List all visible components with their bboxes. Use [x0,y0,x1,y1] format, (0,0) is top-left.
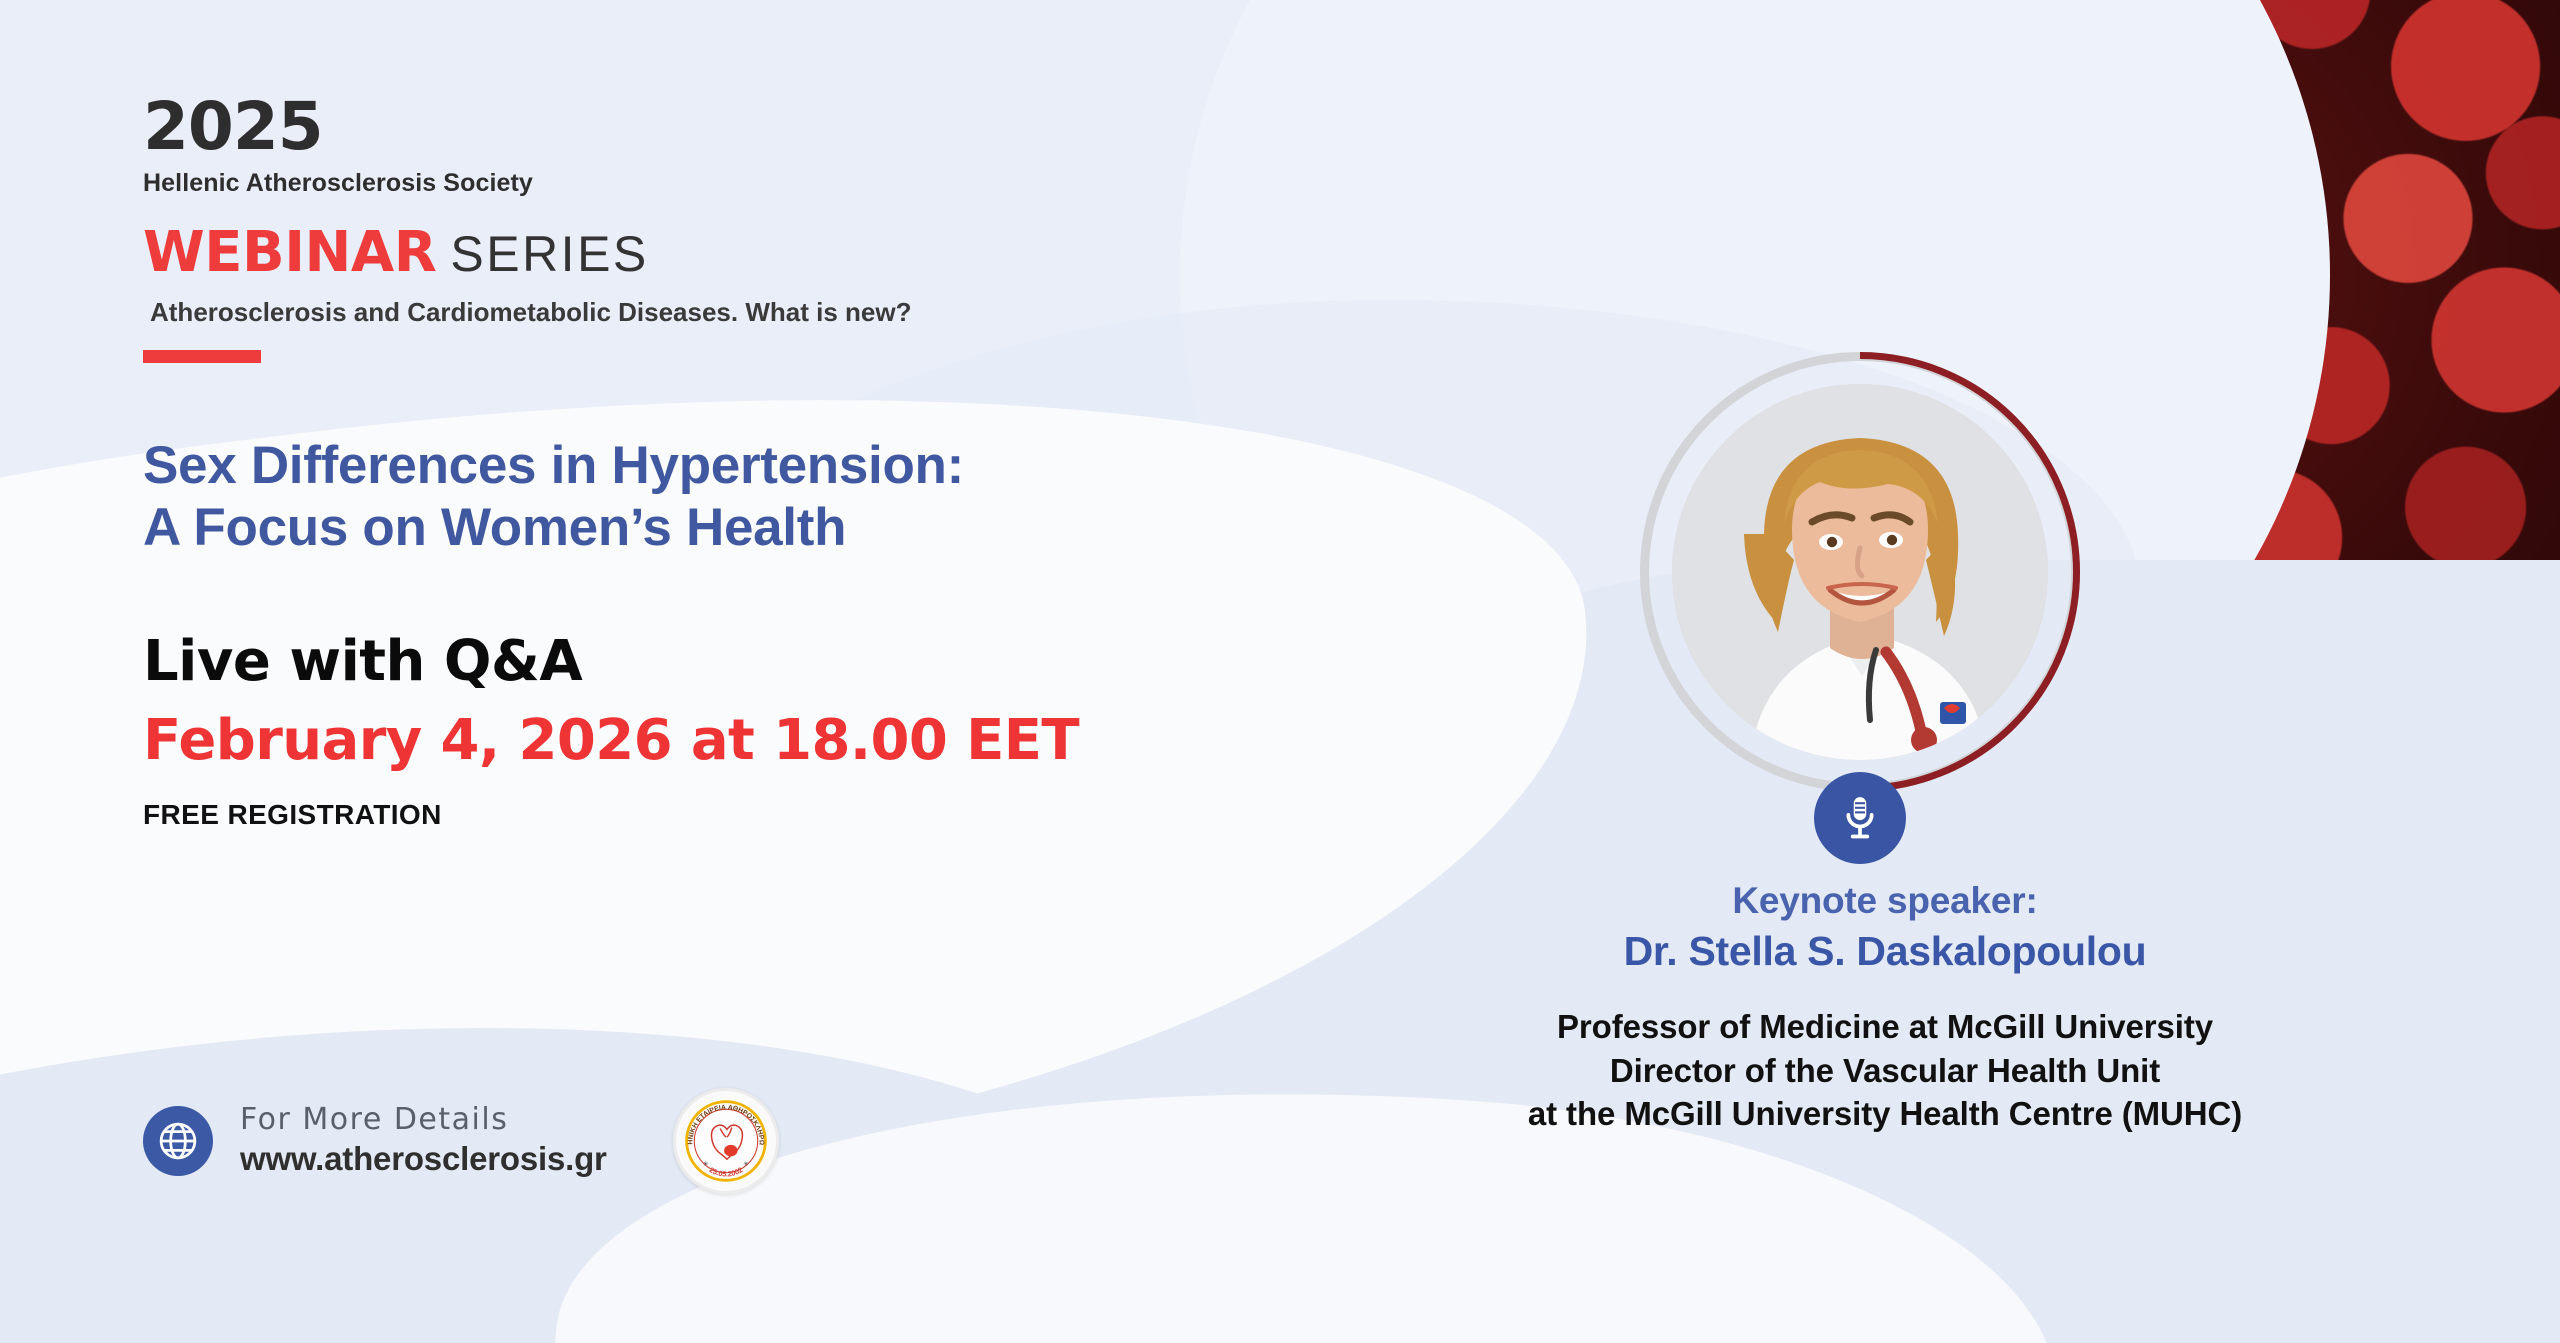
event-datetime: February 4, 2026 at 18.00 EET [143,708,1323,773]
talk-title: Sex Differences in Hypertension: A Focus… [143,435,1323,559]
microphone-icon [1814,772,1906,864]
year-label: 2025 [143,96,1323,159]
portrait-illustration [1672,384,2048,760]
free-registration-label: FREE REGISTRATION [143,799,1323,831]
webinar-banner: 2025 Hellenic Atherosclerosis Society WE… [0,0,2560,1343]
event-format: Live with Q&A [143,629,1323,694]
speaker-photo-frame [1640,352,2080,792]
webinar-word: WEBINAR [143,220,436,285]
globe-icon [143,1106,213,1176]
affiliation-line-3: at the McGill University Health Centre (… [1380,1092,2390,1136]
webinar-series-heading: WEBINAR SERIES [143,220,1323,285]
affiliation-line-1: Professor of Medicine at McGill Universi… [1380,1005,2390,1049]
society-seal-svg: ΕΛΛΗΝΙΚΗ ΕΤΑΙΡΕΙΑ ΑΘΗΡΟΣΚΛΗΡΩΣΗΣ 25.05.2… [678,1093,774,1189]
series-word: SERIES [450,225,648,283]
society-name: Hellenic Atherosclerosis Society [143,169,1323,198]
keynote-speaker-label: Keynote speaker: [1380,880,2390,922]
svg-text:✳: ✳ [743,1160,749,1168]
talk-title-line-2: A Focus on Women’s Health [143,497,1323,559]
speaker-affiliation: Professor of Medicine at McGill Universi… [1380,1005,2390,1136]
red-divider-rule [143,350,261,363]
svg-text:✳: ✳ [703,1160,709,1168]
society-seal-logo: ΕΛΛΗΝΙΚΗ ΕΤΑΙΡΕΙΑ ΑΘΗΡΟΣΚΛΗΡΩΣΗΣ 25.05.2… [673,1088,779,1194]
talk-title-line-1: Sex Differences in Hypertension: [143,435,1323,497]
footer-text-block: For More Details www.atherosclerosis.gr [240,1103,607,1178]
affiliation-line-2: Director of the Vascular Health Unit [1380,1049,2390,1093]
speaker-portrait [1672,384,2048,760]
speaker-info-block: Keynote speaker: Dr. Stella S. Daskalopo… [1380,880,2390,1136]
speaker-name: Dr. Stella S. Daskalopoulou [1380,928,2390,975]
website-url[interactable]: www.atherosclerosis.gr [240,1139,607,1179]
left-content-column: 2025 Hellenic Atherosclerosis Society WE… [143,96,1323,831]
more-details-label: For More Details [240,1103,607,1137]
series-tagline: Atherosclerosis and Cardiometabolic Dise… [150,297,1323,328]
footer-contact: For More Details www.atherosclerosis.gr … [143,1088,779,1194]
